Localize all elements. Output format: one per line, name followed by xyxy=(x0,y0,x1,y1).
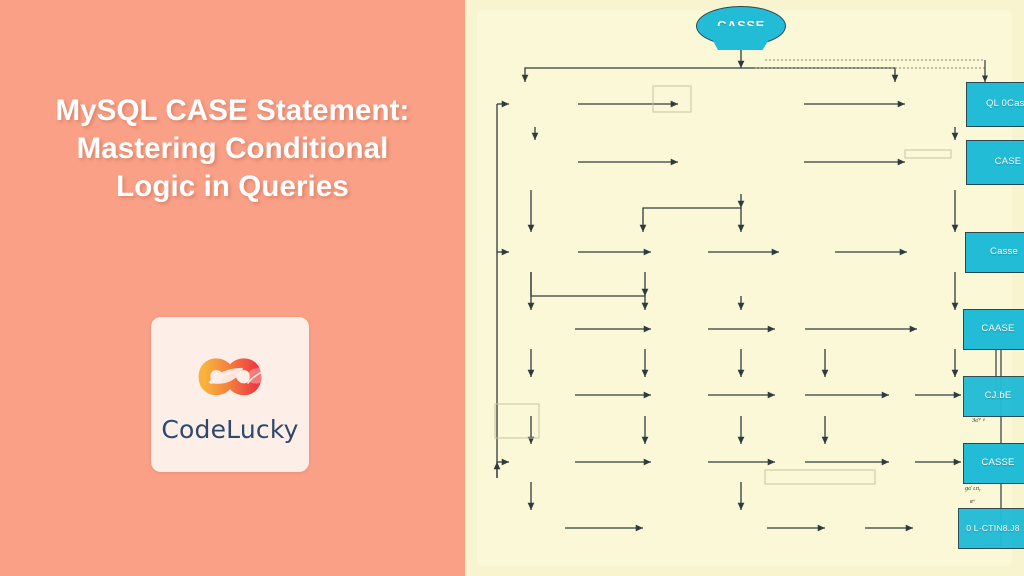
node-row1-left[interactable]: QL 0Case xyxy=(966,82,1024,127)
page-title: MySQL CASE Statement: Mastering Conditio… xyxy=(53,92,413,205)
thumbnail-canvas: MySQL CASE Statement: Mastering Conditio… xyxy=(0,0,1024,576)
left-title-panel: MySQL CASE Statement: Mastering Conditio… xyxy=(0,0,465,576)
brand-wordmark: CodeLucky xyxy=(161,415,298,444)
node-row3-1[interactable]: Casse xyxy=(965,232,1024,273)
edge-label-r6-left: ɡʛ ʟnᵧ xyxy=(965,485,981,492)
infinity-leaf-logo-icon xyxy=(176,346,284,408)
flowchart-connectors xyxy=(465,0,1024,576)
flowchart-panel: CASSE ⁓⸗ ase C∩low texsarlfornt tluf{.. … xyxy=(465,0,1024,576)
edge-label-r5-left: Зʛᴾ ᵖ xyxy=(972,417,985,424)
node-row2-left[interactable]: CASE xyxy=(966,140,1024,185)
node-row5-1[interactable]: CJ.ɓE xyxy=(963,376,1024,417)
node-row4-1[interactable]: CAASE xyxy=(963,309,1024,350)
edge-label-r7-left: ʁᵒ xyxy=(970,498,975,505)
node-row6-1[interactable]: CASSE xyxy=(963,443,1024,484)
brand-logo-card: CodeLucky xyxy=(151,317,309,472)
node-row7-1[interactable]: 0 L·CTIN8.J8 xyxy=(958,508,1024,549)
